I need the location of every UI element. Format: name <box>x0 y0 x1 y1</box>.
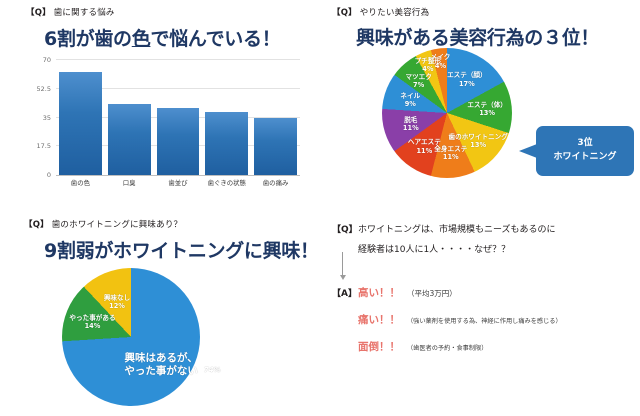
pie-slice-label-text: エステ（体） <box>467 101 507 109</box>
pie-slice-value: 13% <box>467 109 507 117</box>
pie-slice-label: メイク4% <box>431 53 451 69</box>
question-text: 歯に関する悩み <box>54 8 115 18</box>
pie-slice-label: マツエク7% <box>405 73 431 89</box>
pie-slice-value: 9% <box>400 100 420 108</box>
bar-chart-bar <box>59 72 102 176</box>
bar-chart-bar-group: 歯並び <box>157 60 200 175</box>
answer-key-2: 面倒！！ <box>358 339 400 354</box>
qa-answer-row-1: 痛い！！ （強い薬剤を使用する為、神経に作用し痛みを感じる） <box>332 312 562 327</box>
bar-chart-x-tick-label: 歯の痛み <box>263 178 289 187</box>
bar-chart-x-tick-label: 歯並び <box>168 178 187 187</box>
pie-slice-label: 興味なし12% <box>104 293 130 309</box>
bar-chart-x-tick-label: 歯ぐきの状態 <box>208 178 246 187</box>
panel-beauty-acts: 【Q】 やりたい美容行為 興味がある美容行為の３位！ エステ（顔）17%エステ（… <box>320 0 640 208</box>
qa-answer-row-0: 【A】 高い！！ （平均3万円） <box>332 285 457 300</box>
qa-answer-tag: 【A】 <box>332 286 358 299</box>
bar-chart-bar-group: 歯の色 <box>59 60 102 175</box>
bar-chart-bar-group: 口臭 <box>108 60 151 175</box>
bar-chart-x-tick-label: 口臭 <box>123 178 136 187</box>
question-line-beauty-acts: 【Q】 やりたい美容行為 <box>332 8 429 18</box>
qa-question-line-1: ホワイトニングは、市場規模もニーズもあるのに <box>358 222 556 235</box>
question-tag: 【Q】 <box>26 8 51 18</box>
bar-chart-y-tick-label: 17.5 <box>37 142 51 150</box>
pie-slice-label: ヘアエステ11% <box>408 138 441 154</box>
pie-slice-label-text: 脱毛 <box>403 115 419 123</box>
pie-slice-label-text: メイク <box>431 53 451 61</box>
pie-slice-value: 4% <box>431 61 451 69</box>
pie-slice-value: 7% <box>405 81 431 89</box>
question-tag: 【Q】 <box>332 8 357 18</box>
qa-question-line-2: 経験者は10人に1人・・・・なぜ？？ <box>358 242 510 255</box>
pie-slice-label: ネイル9% <box>400 92 420 108</box>
bar-chart-bars: 歯の色口臭歯並び歯ぐきの状態歯の痛み <box>56 60 300 175</box>
headline-underlined-word: 色 <box>132 28 151 50</box>
callout-line-1: 3位 <box>577 137 592 151</box>
pie-slice-value: 11% <box>403 124 419 132</box>
bar-chart-bar <box>157 108 200 175</box>
qa-question-tag: 【Q】 <box>332 222 358 235</box>
headline-part-1: 6割が歯の <box>44 28 132 50</box>
bar-chart-bar <box>205 112 248 175</box>
callout-third-place: 3位 ホワイトニング <box>536 126 634 176</box>
pie-slice-label-text: マツエク <box>405 73 431 81</box>
question-line-teeth-worries: 【Q】 歯に関する悩み <box>26 8 115 18</box>
panel-teeth-worries: 【Q】 歯に関する悩み 6割が歯の色で悩んでいる！ 017.53552.570 … <box>0 0 320 208</box>
pie-slice-value: 74% <box>204 366 221 375</box>
pie-slice-label: エステ（顔）17% <box>447 71 487 87</box>
answer-note-0: （平均3万円） <box>407 288 457 299</box>
qa-question-row-1: 【Q】 ホワイトニングは、市場規模もニーズもあるのに <box>332 222 556 235</box>
qa-question-row-2: 経験者は10人に1人・・・・なぜ？？ <box>332 242 510 255</box>
bar-chart-bar <box>254 118 297 176</box>
bar-chart-bar <box>108 104 151 175</box>
bar-chart-y-tick-label: 52.5 <box>37 85 51 93</box>
pie-slice-label-text: 歯のホワイトニング <box>449 132 508 140</box>
answer-note-1: （強い薬剤を使用する為、神経に作用し痛みを感じる） <box>407 316 562 325</box>
pie-slice-value: 11% <box>408 146 441 154</box>
bar-chart-plot-area: 017.53552.570 歯の色口臭歯並び歯ぐきの状態歯の痛み <box>56 60 300 176</box>
headline-whitening-interest: 9割弱がホワイトニングに興味！ <box>44 236 319 263</box>
infographic-page: 【Q】 歯に関する悩み 6割が歯の色で悩んでいる！ 017.53552.570 … <box>0 0 640 416</box>
bar-chart-x-tick-label: 歯の色 <box>71 178 90 187</box>
callout-tail-icon <box>519 144 537 158</box>
qa-answer-row-2: 面倒！！ （歯医者の予約・食事制限） <box>332 339 487 354</box>
question-text: 歯のホワイトニングに興味あり？ <box>52 220 183 230</box>
bar-chart-y-tick-label: 70 <box>43 56 51 64</box>
bar-chart-bar-group: 歯の痛み <box>254 60 297 175</box>
pie-slice-label-text: ヘアエステ <box>408 138 441 146</box>
pie-slice-label-text: ネイル <box>400 92 420 100</box>
pie-slice-label-text: やった事がない <box>124 365 198 378</box>
answer-key-0: 高い！！ <box>358 285 400 300</box>
panel-qa: 【Q】 ホワイトニングは、市場規模もニーズもあるのに 経験者は10人に1人・・・… <box>320 208 640 416</box>
pie-slice-label: エステ（体）13% <box>467 101 507 117</box>
pie-slice-label-text: 興味はあるが、 <box>124 352 198 365</box>
headline-beauty-acts: 興味がある美容行為の３位！ <box>356 23 599 50</box>
pie-slice-label: やった事がある14% <box>69 314 115 330</box>
headline-teeth-worries: 6割が歯の色で悩んでいる！ <box>44 24 280 51</box>
bar-chart-y-tick-label: 35 <box>43 114 51 122</box>
pie-slice-label-text: エステ（顔） <box>447 71 487 79</box>
pie-slice-label: 脱毛11% <box>403 115 419 131</box>
pie-slice-value: 14% <box>69 322 115 330</box>
pie-slice-value: 17% <box>447 79 487 87</box>
question-text: やりたい美容行為 <box>360 8 430 18</box>
down-arrow-icon <box>342 252 343 276</box>
answer-key-1: 痛い！！ <box>358 312 400 327</box>
pie-slice-label: 興味はあるが、やった事がない74% <box>124 352 198 378</box>
answer-note-2: （歯医者の予約・食事制限） <box>407 343 487 352</box>
headline-part-2: で悩んでいる！ <box>150 28 280 50</box>
bar-chart-teeth-worries: 017.53552.570 歯の色口臭歯並び歯ぐきの状態歯の痛み <box>26 56 306 196</box>
panel-whitening-interest: 【Q】 歯のホワイトニングに興味あり？ 9割弱がホワイトニングに興味！ 興味はあ… <box>0 208 320 416</box>
question-line-whitening-interest: 【Q】 歯のホワイトニングに興味あり？ <box>24 220 182 230</box>
bar-chart-y-tick-label: 0 <box>47 171 51 179</box>
pie-chart-whitening-interest <box>62 268 200 406</box>
callout-line-2: ホワイトニング <box>553 151 616 165</box>
pie-slice-label-text: やった事がある <box>69 314 115 322</box>
pie-slice-label-text: 興味なし <box>104 293 130 301</box>
pie-slice-value: 12% <box>104 302 130 310</box>
question-tag: 【Q】 <box>24 220 49 230</box>
bar-chart-bar-group: 歯ぐきの状態 <box>205 60 248 175</box>
